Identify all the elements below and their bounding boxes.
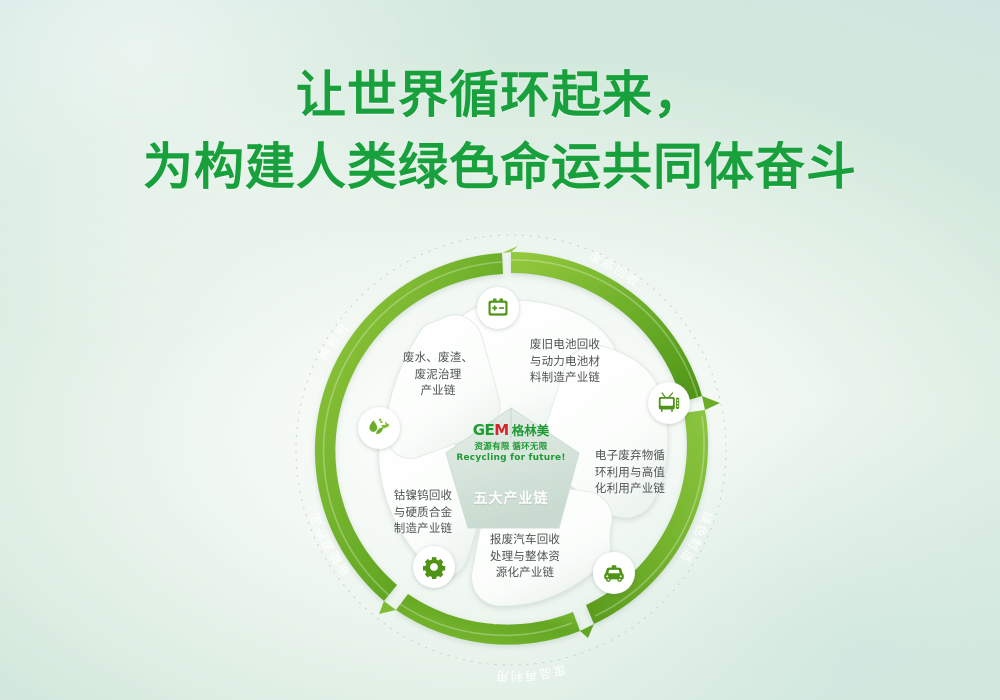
gear-icon-bubble[interactable]	[413, 546, 455, 588]
car-icon	[602, 561, 626, 585]
recycle-water-icon	[366, 415, 392, 441]
recycle-water-icon-bubble[interactable]	[358, 407, 400, 449]
gear-icon	[422, 555, 446, 579]
battery-icon	[486, 296, 510, 320]
diagram-svg: 废品回收 绿色制造 废品再利用 新能源产品 再利用	[250, 210, 750, 690]
ring-label-resource-regeneration: 废品再利用	[494, 662, 567, 683]
headline-line-2: 为构建人类绿色命运共同体奋斗	[0, 135, 1000, 199]
poster-canvas: 让世界循环起来， 为构建人类绿色命运共同体奋斗	[0, 0, 1000, 700]
circular-industry-diagram: 废品回收 绿色制造 废品再利用 新能源产品 再利用	[250, 210, 750, 690]
car-icon-bubble[interactable]	[593, 552, 635, 594]
tv-icon	[657, 391, 681, 415]
headline-line-1: 让世界循环起来，	[0, 63, 1000, 127]
battery-icon-bubble[interactable]	[477, 287, 519, 329]
ring-label-resource-regeneration-text: 废品再利用	[494, 662, 567, 683]
page-title: 让世界循环起来， 为构建人类绿色命运共同体奋斗	[0, 63, 1000, 199]
tv-icon-bubble[interactable]	[648, 382, 690, 424]
